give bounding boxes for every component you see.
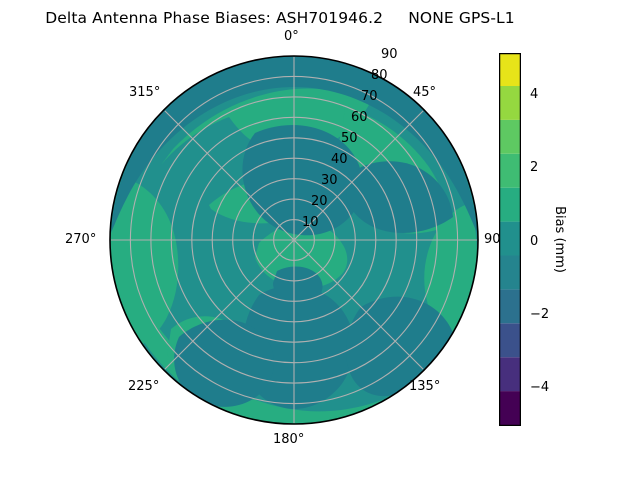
r-tick-90: 90 xyxy=(381,47,398,62)
colorbar-tick-0: 0 xyxy=(530,234,538,249)
colorbar-swatches xyxy=(499,53,521,426)
colorbar-band-7 xyxy=(499,154,521,188)
colorbar-tick-2: 2 xyxy=(530,160,538,175)
colorbar-band-9 xyxy=(499,86,521,120)
theta-tick-315: 315° xyxy=(129,85,160,100)
theta-tick-135: 135° xyxy=(409,379,440,394)
r-tick-60: 60 xyxy=(351,110,368,125)
r-tick-50: 50 xyxy=(341,131,358,146)
colorbar-band-10 xyxy=(499,53,521,86)
figure-canvas: Delta Antenna Phase Biases: ASH701946.2 … xyxy=(0,0,640,480)
colorbar-band-0 xyxy=(499,391,521,425)
r-tick-10: 10 xyxy=(302,215,319,230)
colorbar-tick-minus4: −4 xyxy=(530,380,549,395)
colorbar: 4 2 0 −2 −4 xyxy=(499,53,521,426)
polar-grid xyxy=(110,56,478,424)
theta-tick-225: 225° xyxy=(128,379,159,394)
r-tick-30: 30 xyxy=(321,173,338,188)
page-title: Delta Antenna Phase Biases: ASH701946.2 … xyxy=(0,8,560,28)
polar-plot-svg xyxy=(109,55,479,425)
colorbar-band-5 xyxy=(499,222,521,256)
theta-tick-45: 45° xyxy=(413,85,436,100)
theta-tick-0: 0° xyxy=(284,29,299,44)
r-tick-80: 80 xyxy=(371,68,388,83)
r-tick-70: 70 xyxy=(361,89,378,104)
colorbar-band-8 xyxy=(499,120,521,154)
r-tick-20: 20 xyxy=(311,194,328,209)
colorbar-band-list xyxy=(499,53,521,425)
colorbar-band-4 xyxy=(499,256,521,290)
colorbar-band-3 xyxy=(499,289,521,323)
colorbar-band-6 xyxy=(499,188,521,222)
colorbar-band-1 xyxy=(499,357,521,391)
colorbar-tick-4: 4 xyxy=(530,87,538,102)
colorbar-band-2 xyxy=(499,323,521,357)
polar-axes: 0° 45° 90 135° 180° 225° 270° 315° 10 20… xyxy=(109,55,479,425)
r-tick-40: 40 xyxy=(331,152,348,167)
colorbar-axis-label: Bias (mm) xyxy=(548,53,570,426)
theta-tick-180: 180° xyxy=(273,432,304,447)
theta-tick-270: 270° xyxy=(65,232,96,247)
colorbar-tick-minus2: −2 xyxy=(530,307,549,322)
